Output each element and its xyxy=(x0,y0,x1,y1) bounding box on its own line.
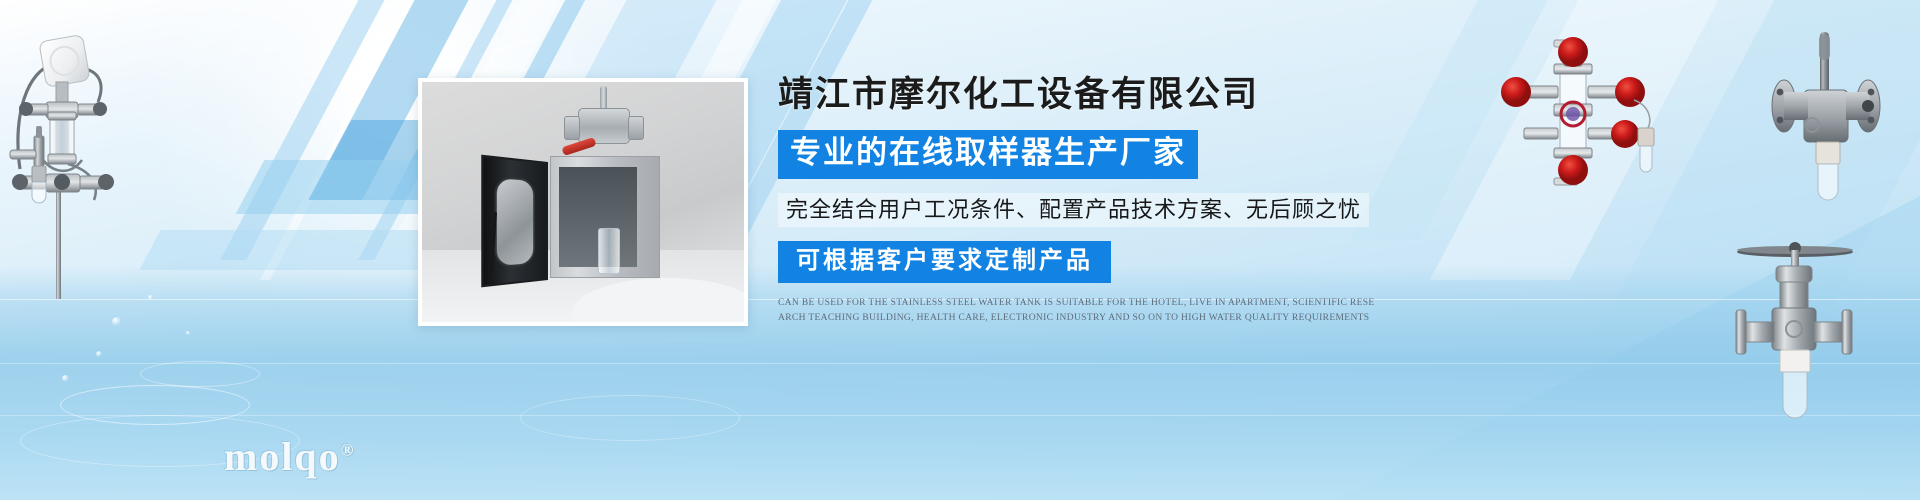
watermark-logo: molqo® xyxy=(224,433,353,480)
promotional-banner: 靖江市摩尔化工设备有限公司 专业的在线取样器生产厂家 完全结合用户工况条件、配置… xyxy=(0,0,1920,500)
equipment-flanged-handle-valve xyxy=(1758,30,1898,210)
watermark-logo-text: molqo xyxy=(224,434,341,479)
subheadline: 完全结合用户工况条件、配置产品技术方案、无后顾之忧 xyxy=(778,193,1369,227)
equipment-left-sampler xyxy=(6,24,196,304)
headline-badge: 专业的在线取样器生产厂家 xyxy=(778,130,1198,179)
equipment-cross-valve-assembly xyxy=(1498,36,1658,196)
fineprint-description: CAN BE USED FOR THE STAINLESS STEEL WATE… xyxy=(778,296,1380,327)
banner-text-block: 靖江市摩尔化工设备有限公司 专业的在线取样器生产厂家 完全结合用户工况条件、配置… xyxy=(778,74,1398,326)
company-name: 靖江市摩尔化工设备有限公司 xyxy=(778,74,1398,116)
registered-trademark-icon: ® xyxy=(341,441,354,460)
product-photo xyxy=(418,78,748,326)
custom-product-cta[interactable]: 可根据客户要求定制产品 xyxy=(778,241,1111,283)
